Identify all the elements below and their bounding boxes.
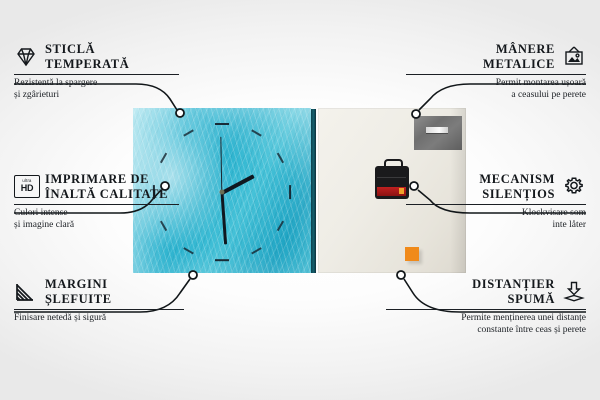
- hanging-frame-icon: [562, 45, 586, 69]
- clock-tick: [289, 185, 291, 199]
- mechanism-hanging-loop: [384, 159, 403, 170]
- callout-desc-line1: Rezistentă la spargere: [14, 78, 179, 90]
- gear-icon: [562, 175, 586, 199]
- infographic-canvas: STICLĂ TEMPERATĂ Rezistentă la spargere …: [0, 0, 600, 400]
- callout-high-quality-print: ultra HD IMPRIMARE DE ÎNALTĂ CALITATE Cu…: [14, 172, 179, 231]
- clock-glass-edge: [311, 109, 316, 273]
- callout-rule: [406, 74, 586, 75]
- hanger-slot: [426, 127, 448, 133]
- callout-title: MÂNERE METALICE: [483, 42, 555, 71]
- callout-rule: [14, 204, 179, 205]
- callout-title: MARGINI ȘLEFUITE: [45, 277, 112, 306]
- callout-desc-line1: Culori intense: [14, 208, 179, 220]
- callout-title: STICLĂ TEMPERATĂ: [45, 42, 129, 71]
- callout-polished-edges: MARGINI ȘLEFUITE Finisare netedă și sigu…: [14, 277, 184, 325]
- callout-desc-line2: constante între ceas și perete: [386, 325, 586, 337]
- callout-header: MÂNERE METALICE: [406, 42, 586, 71]
- callout-rule: [14, 74, 179, 75]
- metal-hanger-plate: [414, 116, 462, 150]
- callout-desc-line2: inte låter: [406, 220, 586, 232]
- ultra-hd-icon: ultra HD: [14, 175, 38, 199]
- callout-metal-handles: MÂNERE METALICE Permit montarea ușoară a…: [406, 42, 586, 101]
- diagonal-stripes-icon: [14, 280, 38, 304]
- clock-tick: [215, 123, 229, 125]
- callout-desc-line2: și imagine clară: [14, 220, 179, 232]
- foam-spacer: [405, 247, 419, 261]
- callout-rule: [406, 204, 586, 205]
- callout-header: ultra HD IMPRIMARE DE ÎNALTĂ CALITATE: [14, 172, 179, 201]
- clock-tick: [215, 259, 229, 261]
- callout-title: DISTANȚIER SPUMĂ: [472, 277, 555, 306]
- callout-desc-line2: și zgârieturi: [14, 90, 179, 102]
- clock-mechanism-box: [375, 166, 409, 199]
- callout-header: STICLĂ TEMPERATĂ: [14, 42, 179, 71]
- callout-header: MECANISM SILENȚIOS: [406, 172, 586, 201]
- callout-rule: [386, 309, 586, 310]
- callout-rule: [14, 309, 184, 310]
- callout-title: IMPRIMARE DE ÎNALTĂ CALITATE: [45, 172, 168, 201]
- clock-center-hub: [220, 190, 225, 195]
- callout-desc-line1: Permit montarea ușoară: [406, 78, 586, 90]
- callout-desc-line2: a ceasului pe perete: [406, 90, 586, 102]
- callout-header: DISTANȚIER SPUMĂ: [386, 277, 586, 306]
- callout-desc-line1: Finisare netedă și sigură: [14, 313, 184, 325]
- diamond-icon: [14, 45, 38, 69]
- mechanism-seam: [377, 177, 406, 178]
- callout-header: MARGINI ȘLEFUITE: [14, 277, 184, 306]
- callout-foam-spacer: DISTANȚIER SPUMĂ Permite menținerea unei…: [386, 277, 586, 336]
- callout-tempered-glass: STICLĂ TEMPERATĂ Rezistentă la spargere …: [14, 42, 179, 101]
- callout-title: MECANISM SILENȚIOS: [479, 172, 555, 201]
- battery: [377, 187, 406, 196]
- down-arrow-pad-icon: [562, 280, 586, 304]
- callout-desc-line1: Permite menținerea unei distanțe: [386, 313, 586, 325]
- callout-desc-line1: Klockvisare som: [406, 208, 586, 220]
- callout-silent-mechanism: MECANISM SILENȚIOS Klockvisare som inte …: [406, 172, 586, 231]
